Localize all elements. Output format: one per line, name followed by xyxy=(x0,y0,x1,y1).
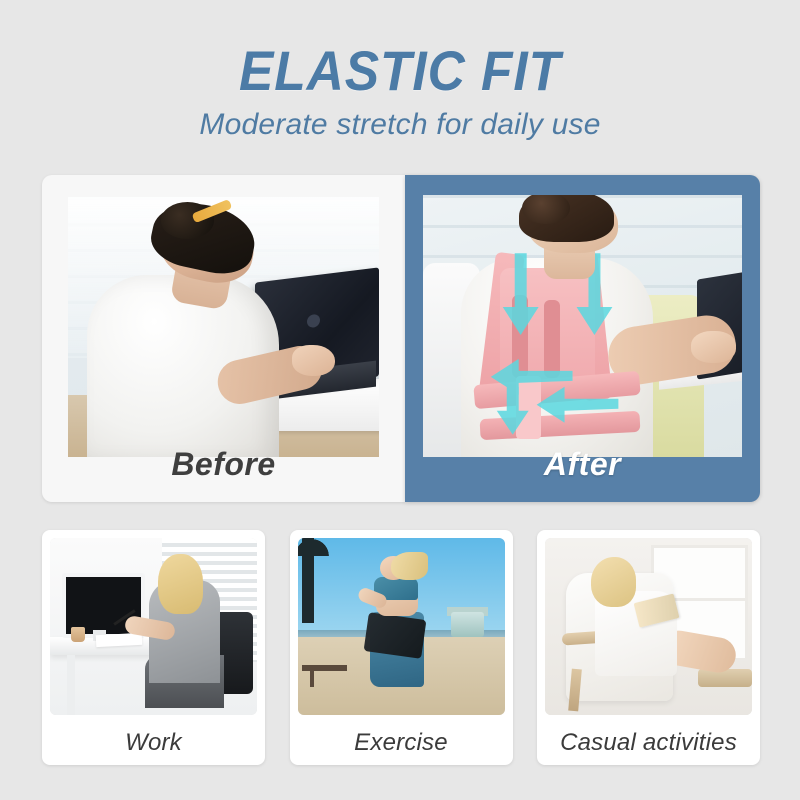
lifeguard-tower xyxy=(451,612,484,637)
before-label: Before xyxy=(42,443,405,488)
use-case-label-exercise: Exercise xyxy=(290,729,513,757)
work-photo xyxy=(50,538,257,715)
use-case-card-exercise[interactable]: Exercise xyxy=(290,530,513,765)
bench-leg xyxy=(310,669,314,687)
before-photo xyxy=(68,197,379,457)
page-subtitle: Moderate stretch for daily use xyxy=(0,108,800,142)
use-case-label-work: Work xyxy=(42,729,265,757)
blonde-hair xyxy=(591,557,637,607)
after-card[interactable]: After xyxy=(405,175,760,502)
footstool xyxy=(698,669,752,687)
use-case-card-casual[interactable]: Casual activities xyxy=(537,530,760,765)
use-case-row: Work xyxy=(42,530,760,765)
before-after-comparison: Before xyxy=(42,175,760,502)
notepad xyxy=(95,632,141,647)
coffee-cup xyxy=(71,627,85,643)
after-scene xyxy=(423,195,742,457)
palm-fronds xyxy=(298,538,329,556)
use-case-card-work[interactable]: Work xyxy=(42,530,265,765)
arrow-left-upper xyxy=(491,359,573,395)
exercise-photo xyxy=(298,538,505,715)
arrow-down-center xyxy=(497,387,529,435)
casual-photo xyxy=(545,538,752,715)
tied-jacket xyxy=(363,612,426,659)
after-label: After xyxy=(405,443,760,488)
after-photo xyxy=(423,195,742,457)
use-case-label-casual: Casual activities xyxy=(537,729,760,757)
arrow-left-lower xyxy=(537,387,619,423)
work-scene xyxy=(50,538,257,715)
bench-seat xyxy=(302,665,348,670)
page-title: ELASTIC FIT xyxy=(32,38,768,103)
ponytail xyxy=(391,552,428,580)
before-scene xyxy=(68,197,379,457)
arrow-down-left xyxy=(503,253,539,335)
before-card[interactable]: Before xyxy=(42,175,405,502)
casual-scene xyxy=(545,538,752,715)
exercise-scene xyxy=(298,538,505,715)
desk-leg xyxy=(67,655,75,715)
product-feature-page: ELASTIC FIT Moderate stretch for daily u… xyxy=(0,0,800,800)
typing-hand xyxy=(292,345,336,376)
blonde-hair xyxy=(158,554,204,614)
hair-bun xyxy=(522,195,570,224)
